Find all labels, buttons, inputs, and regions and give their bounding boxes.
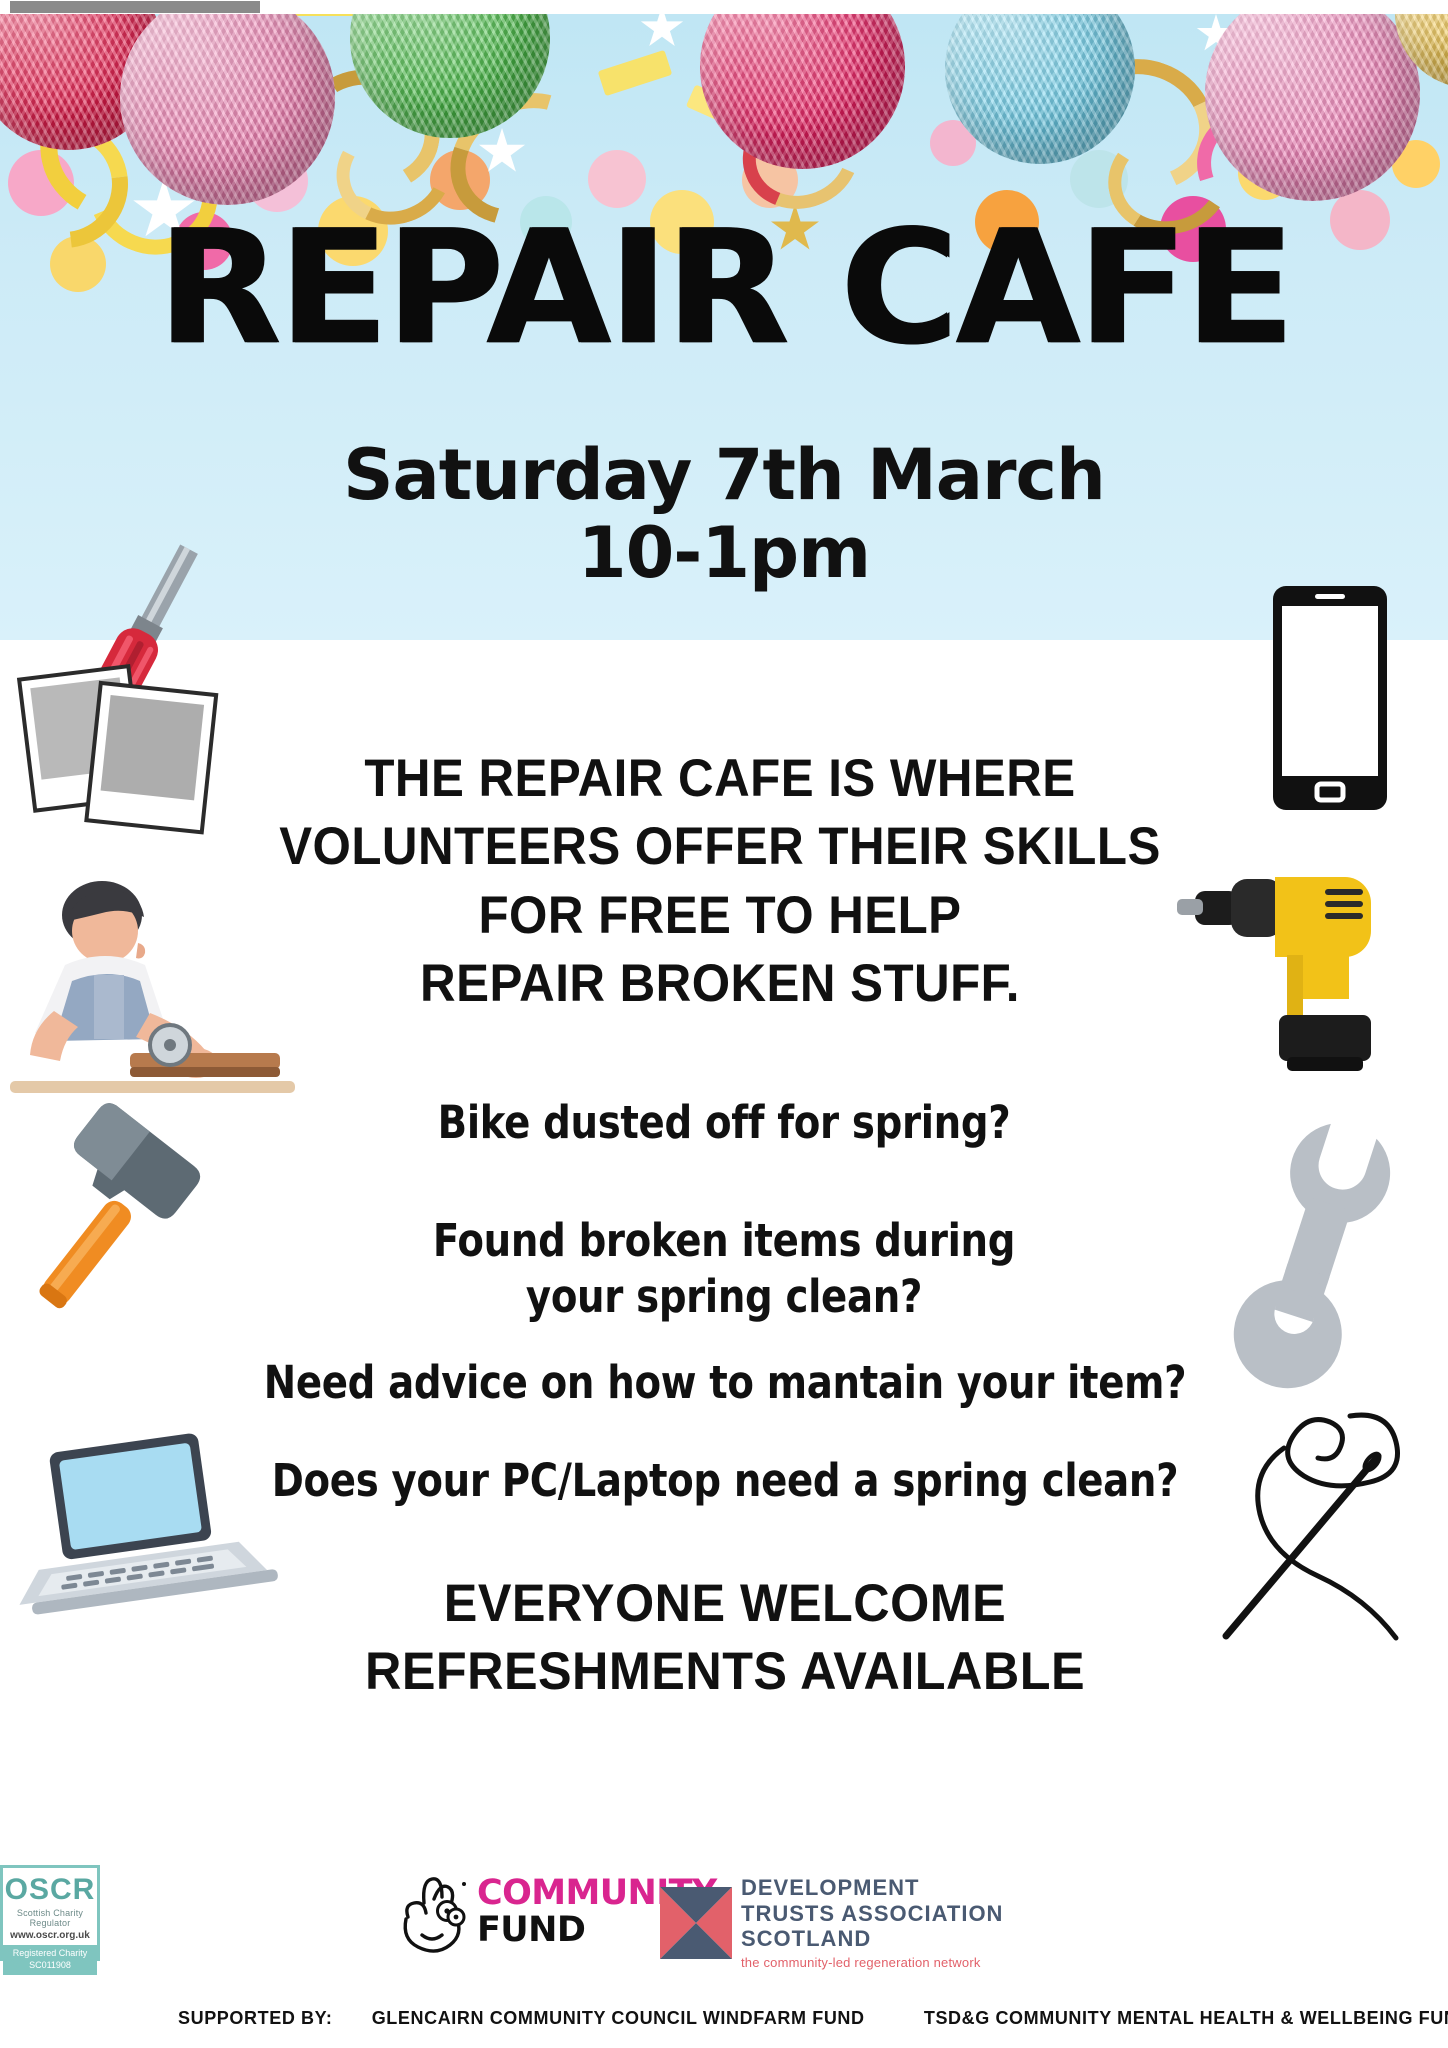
dta-line-3: SCOTLAND [741, 1926, 1003, 1952]
funder-logo-row: COMMUNITY FUND DEVELOPMENT TRUST [0, 1865, 1448, 1970]
poster: REPAIR CAFE Saturday 7th March 10-1pm [0, 0, 1448, 2048]
oscr-charity-band: Registered Charity SC011908 [3, 1945, 97, 1975]
question-broken-items: Found broken items during your spring cl… [294, 1213, 1154, 1325]
photos-icon [15, 660, 230, 840]
pompom-pink [120, 0, 335, 205]
footer: SUPPORTED BY: GLENCAIRN COMMUNITY COUNCI… [0, 2008, 1448, 2029]
dta-scotland-logo: DEVELOPMENT TRUSTS ASSOCIATION SCOTLAND … [660, 1875, 1003, 1970]
oscr-wordmark: OSCR [3, 1875, 97, 1905]
scrollbar-thumb[interactable] [10, 1, 260, 13]
question-bike: Bike dusted off for spring? [294, 1095, 1154, 1151]
confetti-bar [598, 50, 673, 96]
dta-wordmark: DEVELOPMENT TRUSTS ASSOCIATION SCOTLAND … [741, 1875, 1003, 1970]
intro-paragraph: THE REPAIR CAFE IS WHERE VOLUNTEERS OFFE… [250, 745, 1189, 1018]
hammer-icon [10, 1115, 240, 1345]
intro-line-1: THE REPAIR CAFE IS WHERE [250, 745, 1189, 813]
page-title: REPAIR CAFE [0, 210, 1448, 368]
dta-bowtie-icon [660, 1887, 732, 1959]
welcome-line-2: REFRESHMENTS AVAILABLE [207, 1638, 1243, 1706]
event-time: 10-1pm [0, 514, 1448, 592]
scrollbar-strip[interactable] [0, 0, 1448, 14]
welcome-line-1: EVERYONE WELCOME [207, 1570, 1243, 1638]
intro-line-2: VOLUNTEERS OFFER THEIR SKILLS [250, 813, 1189, 881]
footer-supported-by-label: SUPPORTED BY: [178, 2008, 332, 2029]
power-drill-icon [1175, 855, 1415, 1105]
wrench-icon [1200, 1110, 1440, 1360]
oscr-charity-label: Registered Charity [3, 1948, 97, 1960]
question-maintain-advice: Need advice on how to mantain your item? [231, 1355, 1220, 1411]
smartphone-icon [1265, 578, 1395, 818]
question-pc-laptop: Does your PC/Laptop need a spring clean? [231, 1453, 1220, 1509]
oscr-charity-number: SC011908 [3, 1960, 97, 1972]
poster-header-band: REPAIR CAFE Saturday 7th March 10-1pm [0, 0, 1448, 640]
oscr-url: www.oscr.org.uk [3, 1930, 97, 1941]
dta-line-2: TRUSTS ASSOCIATION [741, 1901, 1003, 1927]
dta-tagline: the community-led regeneration network [741, 1955, 1003, 1970]
welcome-block: EVERYONE WELCOME REFRESHMENTS AVAILABLE [207, 1570, 1243, 1706]
dta-line-1: DEVELOPMENT [741, 1875, 1003, 1901]
event-date-block: Saturday 7th March 10-1pm [0, 436, 1448, 593]
poster-body: THE REPAIR CAFE IS WHERE VOLUNTEERS OFFE… [0, 640, 1448, 2048]
footer-funder-tsdg: TSD&G COMMUNITY MENTAL HEALTH & WELLBEIN… [924, 2008, 1448, 2029]
question-broken-items-line-1: Found broken items during [294, 1213, 1154, 1269]
footer-funder-glencairn: GLENCAIRN COMMUNITY COUNCIL WINDFARM FUN… [372, 2008, 865, 2029]
event-date: Saturday 7th March [0, 436, 1448, 514]
intro-line-4: REPAIR BROKEN STUFF. [250, 950, 1189, 1018]
oscr-subtitle: Scottish Charity Regulator [3, 1908, 97, 1928]
crossed-fingers-icon [400, 1873, 470, 1951]
question-broken-items-line-2: your spring clean? [294, 1269, 1154, 1325]
intro-line-3: FOR FREE TO HELP [250, 882, 1189, 950]
oscr-logo: OSCR Scottish Charity Regulator www.oscr… [0, 1865, 100, 1961]
